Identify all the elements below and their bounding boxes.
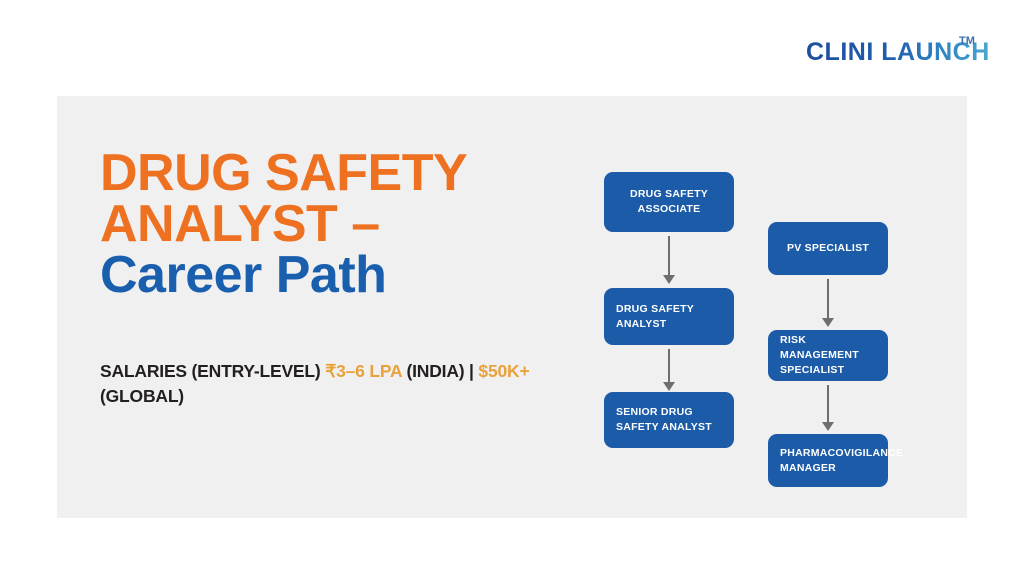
title-line-1: DRUG SAFETY [100, 148, 570, 199]
salary-global-region: (GLOBAL) [100, 386, 184, 406]
flow-box-label: PV SPECIALIST [768, 241, 888, 256]
salary-label: SALARIES (ENTRY-LEVEL) [100, 361, 325, 381]
salary-india-amount: ₹3–6 LPA [325, 361, 402, 381]
arrow-associate-to-analyst [662, 236, 676, 284]
arrow-analyst-to-senior-analyst [662, 349, 676, 391]
flow-box-drug-safety-analyst[interactable]: DRUG SAFETY ANALYST [604, 288, 734, 345]
title-line-2: ANALYST – [100, 199, 570, 250]
flow-box-label: RISK MANAGEMENT SPECIALIST [780, 333, 880, 378]
flow-box-pv-specialist[interactable]: PV SPECIALIST [768, 222, 888, 275]
trademark-symbol: TM [959, 35, 975, 47]
brand-logo: CLINI LAUNCH TM [806, 38, 986, 74]
flow-box-risk-management-specialist[interactable]: RISK MANAGEMENT SPECIALIST [768, 330, 888, 381]
flow-box-senior-drug-safety-analyst[interactable]: SENIOR DRUG SAFETY ANALYST [604, 392, 734, 448]
arrow-risk-management-to-pv-manager [821, 385, 835, 431]
arrow-pv-to-risk-management [821, 279, 835, 327]
flow-box-pharmacovigilance-manager[interactable]: PHARMACOVIGILANCE MANAGER [768, 434, 888, 487]
flow-box-label: DRUG SAFETY ASSOCIATE [604, 187, 734, 217]
flow-box-label: PHARMACOVIGILANCE MANAGER [780, 446, 880, 476]
title-line-3: Career Path [100, 250, 570, 301]
salary-india-region: (INDIA) | [402, 361, 479, 381]
page-title: DRUG SAFETY ANALYST – Career Path [100, 148, 570, 301]
flow-box-drug-safety-associate[interactable]: DRUG SAFETY ASSOCIATE [604, 172, 734, 232]
salary-global-amount: $50K+ [478, 361, 529, 381]
flow-box-label: SENIOR DRUG SAFETY ANALYST [616, 405, 726, 435]
salary-subtitle: SALARIES (ENTRY-LEVEL) ₹3–6 LPA (INDIA) … [100, 359, 540, 409]
flow-box-label: DRUG SAFETY ANALYST [616, 302, 726, 332]
